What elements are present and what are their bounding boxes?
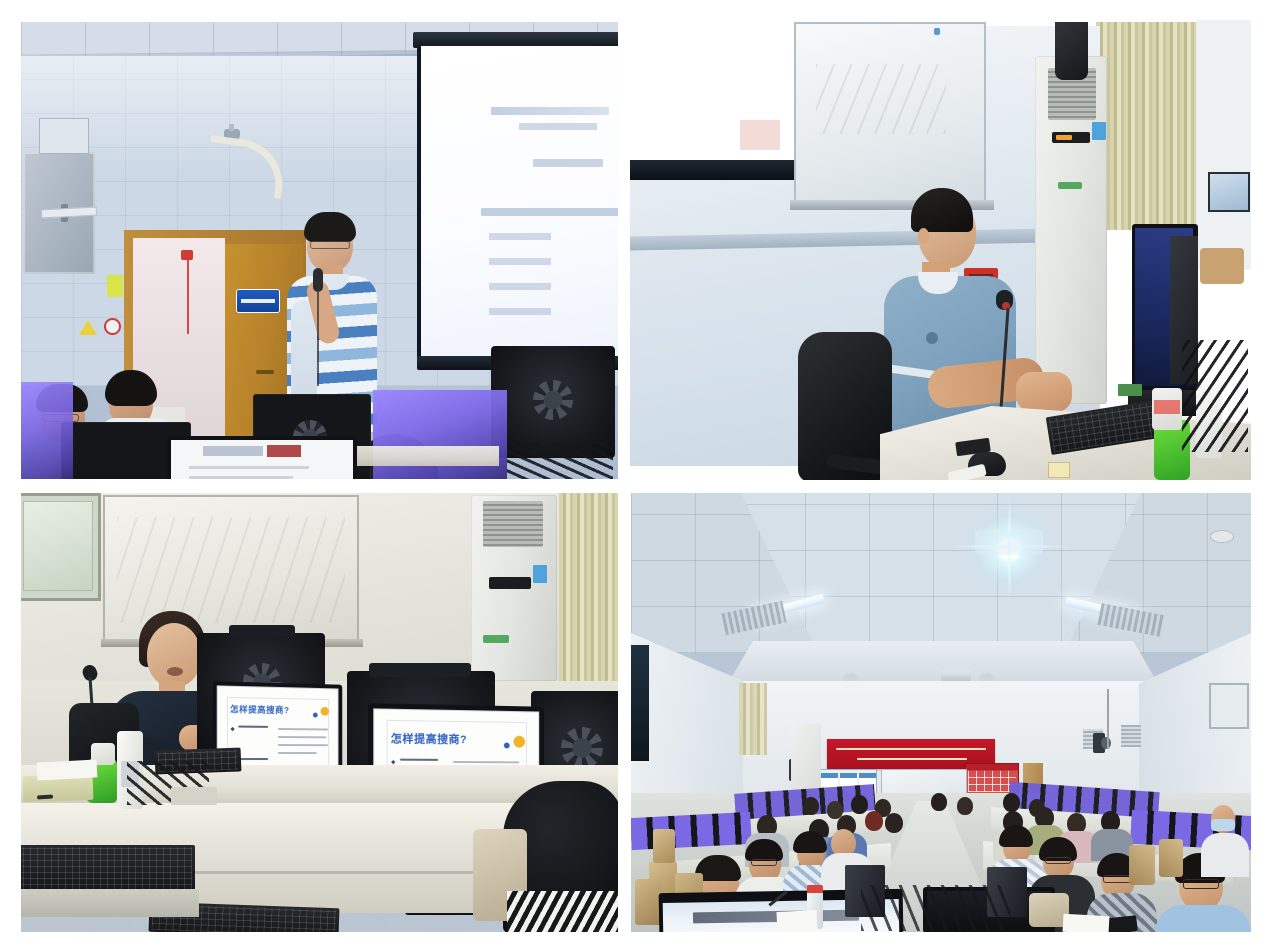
attendee-glasses-front-left-2 bbox=[751, 859, 777, 866]
slide-body-line-2-1 bbox=[453, 761, 519, 763]
presenter-hair bbox=[304, 212, 356, 242]
slide-list-item-4 bbox=[489, 308, 551, 315]
speaker-ear bbox=[918, 228, 929, 244]
window-curtain bbox=[1096, 22, 1208, 230]
papers-right bbox=[1063, 914, 1110, 932]
cable-bundle bbox=[507, 442, 613, 479]
caution-label bbox=[107, 275, 123, 297]
white-paper bbox=[37, 759, 98, 780]
attendee-head-far-5 bbox=[931, 793, 947, 811]
slide-section-heading bbox=[481, 208, 618, 216]
webpage-thumb bbox=[267, 445, 301, 457]
slide-title-1: 怎样提高搜商? bbox=[230, 703, 289, 716]
slide-accent-dot-orange-1 bbox=[321, 707, 330, 716]
security-camera-mount bbox=[229, 124, 234, 131]
wall-camera-right bbox=[1101, 737, 1111, 749]
microphone-icon bbox=[313, 268, 323, 292]
attendee-body-masked bbox=[1201, 833, 1249, 877]
slide-bullet-text-1b bbox=[238, 758, 268, 760]
webpage-row-2 bbox=[189, 476, 293, 479]
wall-cabinet-right bbox=[1209, 683, 1249, 729]
spray-bottle-label bbox=[1154, 400, 1180, 414]
water-bottle-cap bbox=[807, 885, 823, 893]
monitor-screen-glow-left bbox=[21, 382, 73, 479]
photo-collage: 怎样提高搜商? bbox=[0, 0, 1269, 951]
monitor-top-bar-bl-1 bbox=[229, 625, 295, 637]
chair-left-3 bbox=[635, 879, 661, 925]
slide-list-item-3 bbox=[489, 283, 551, 290]
photo-bottom-right[interactable] bbox=[631, 493, 1251, 932]
far-curtain-br bbox=[739, 683, 767, 755]
emergency-pull-cord bbox=[187, 254, 189, 334]
speaker-hands bbox=[1016, 372, 1072, 412]
attendee-face-mask bbox=[1211, 819, 1235, 831]
projection-screen-bottom-bar-tr bbox=[630, 160, 815, 180]
whiteboard-marks bbox=[816, 64, 946, 134]
warning-triangle-icon bbox=[79, 320, 97, 335]
attendee-head-left-4 bbox=[865, 811, 883, 831]
air-conditioner-logo-bl bbox=[483, 635, 509, 643]
banner-text-line-1 bbox=[836, 748, 986, 750]
instructor-head bbox=[147, 623, 201, 687]
projection-faint-red-mark bbox=[740, 120, 780, 150]
photo-top-left[interactable] bbox=[21, 22, 618, 479]
whiteboard-bl-marks bbox=[117, 517, 345, 623]
classroom-scene-bottom-left: 怎样提高搜商? bbox=[21, 493, 618, 932]
ceiling-lamp-housing bbox=[975, 529, 1043, 555]
podium-scene-top-right bbox=[630, 0, 1251, 480]
microphone-cable bbox=[317, 290, 319, 386]
attendee-head-left-5 bbox=[885, 813, 903, 833]
slide-list-item-1 bbox=[489, 233, 551, 240]
electrical-panel-top-box bbox=[39, 118, 89, 154]
attendee-head-far-1 bbox=[803, 797, 819, 815]
wall-poster-inner bbox=[23, 501, 93, 591]
desk-surface bbox=[357, 446, 499, 466]
desk-drawer-front bbox=[21, 889, 199, 917]
speaker-chest-logo bbox=[926, 332, 938, 344]
slide-body-line-1-4 bbox=[278, 752, 317, 754]
far-chair bbox=[1200, 248, 1244, 284]
attendee-glasses-front-right-3 bbox=[1103, 875, 1131, 883]
power-outlet[interactable] bbox=[1048, 462, 1070, 478]
slide-body-line-1-3 bbox=[278, 744, 328, 746]
monitor-top-bar-bl-2 bbox=[369, 663, 471, 677]
whiteboard-tape-mark bbox=[934, 28, 940, 35]
smoke-detector-icon bbox=[1211, 531, 1233, 542]
chair-right-2 bbox=[1159, 839, 1183, 877]
attendee-striped-garment bbox=[507, 891, 618, 932]
emergency-button bbox=[181, 250, 193, 260]
presenter-glasses bbox=[310, 241, 350, 249]
mouse-pad-bl bbox=[171, 787, 217, 805]
desk-label-sticker bbox=[1118, 384, 1142, 396]
webpage-row-1 bbox=[189, 466, 309, 469]
attendee-head-far-6 bbox=[957, 797, 973, 815]
far-wall-right bbox=[1196, 20, 1251, 270]
lab-scene-bottom-right bbox=[631, 493, 1251, 932]
keyboard-bl-front[interactable] bbox=[21, 845, 195, 893]
air-conditioner-label-bl bbox=[533, 565, 547, 583]
classroom-scene-top-left bbox=[21, 22, 618, 479]
attendee-glasses-front-right-2 bbox=[1045, 857, 1071, 864]
far-monitor bbox=[1208, 172, 1250, 212]
chair-right-1 bbox=[1129, 845, 1155, 885]
air-conditioner-display-bl bbox=[489, 577, 531, 589]
slide-title-2: 怎样提高搜商? bbox=[391, 730, 467, 747]
window-curtain-bl bbox=[559, 493, 618, 685]
attendee-head-far-3 bbox=[851, 795, 868, 814]
banner-text-line-2 bbox=[857, 758, 967, 760]
air-conditioner-logo bbox=[1058, 182, 1082, 189]
slide-subtitle-text bbox=[519, 123, 597, 130]
photo-top-right[interactable] bbox=[630, 0, 1251, 480]
slide-list-item-2 bbox=[489, 258, 551, 265]
air-conditioner-label bbox=[1092, 122, 1106, 140]
chair-far-left bbox=[653, 829, 675, 863]
door-handle bbox=[256, 370, 274, 374]
floor-cables bbox=[861, 885, 1011, 931]
monitor-row-mid-left bbox=[631, 812, 752, 850]
instructor-mouth bbox=[167, 667, 183, 676]
slide-bullet-text-1a bbox=[238, 726, 268, 728]
projector-hanging-rod bbox=[1107, 689, 1109, 749]
ac-speaker-box bbox=[1055, 22, 1088, 80]
no-smoking-icon bbox=[104, 318, 121, 335]
monitor-gear-logo-bl-3 bbox=[561, 727, 603, 769]
slide-accent-dot-orange-2 bbox=[514, 736, 525, 748]
wall-vent-right-2 bbox=[1121, 725, 1141, 747]
projection-screen-frame-tr bbox=[630, 20, 815, 180]
slide-body-line-1-2 bbox=[278, 736, 326, 738]
slide-accent-dot-blue-2 bbox=[504, 743, 510, 749]
slide-author-text bbox=[533, 159, 603, 167]
air-conditioner-display-digits bbox=[1056, 135, 1072, 140]
monitor-gear-logo-right bbox=[533, 380, 573, 420]
slide-title-text bbox=[491, 107, 609, 115]
attendee-body-front-right-4 bbox=[1155, 905, 1251, 932]
notepad-front[interactable] bbox=[776, 910, 817, 932]
air-conditioner-vent-bl bbox=[483, 501, 543, 547]
door-sign-text bbox=[241, 299, 275, 303]
webpage-header bbox=[203, 446, 263, 456]
slide-accent-dot-blue-1 bbox=[313, 713, 318, 718]
attendee-head-far-7 bbox=[1003, 793, 1020, 812]
left-window-curtain-br bbox=[631, 645, 649, 761]
cable-bundle-tr bbox=[1182, 340, 1248, 452]
photo-bottom-left[interactable]: 怎样提高搜商? bbox=[21, 493, 618, 932]
attendee-glasses-front-right-4 bbox=[1183, 879, 1219, 889]
slide-bullet-text-2a bbox=[400, 759, 438, 761]
